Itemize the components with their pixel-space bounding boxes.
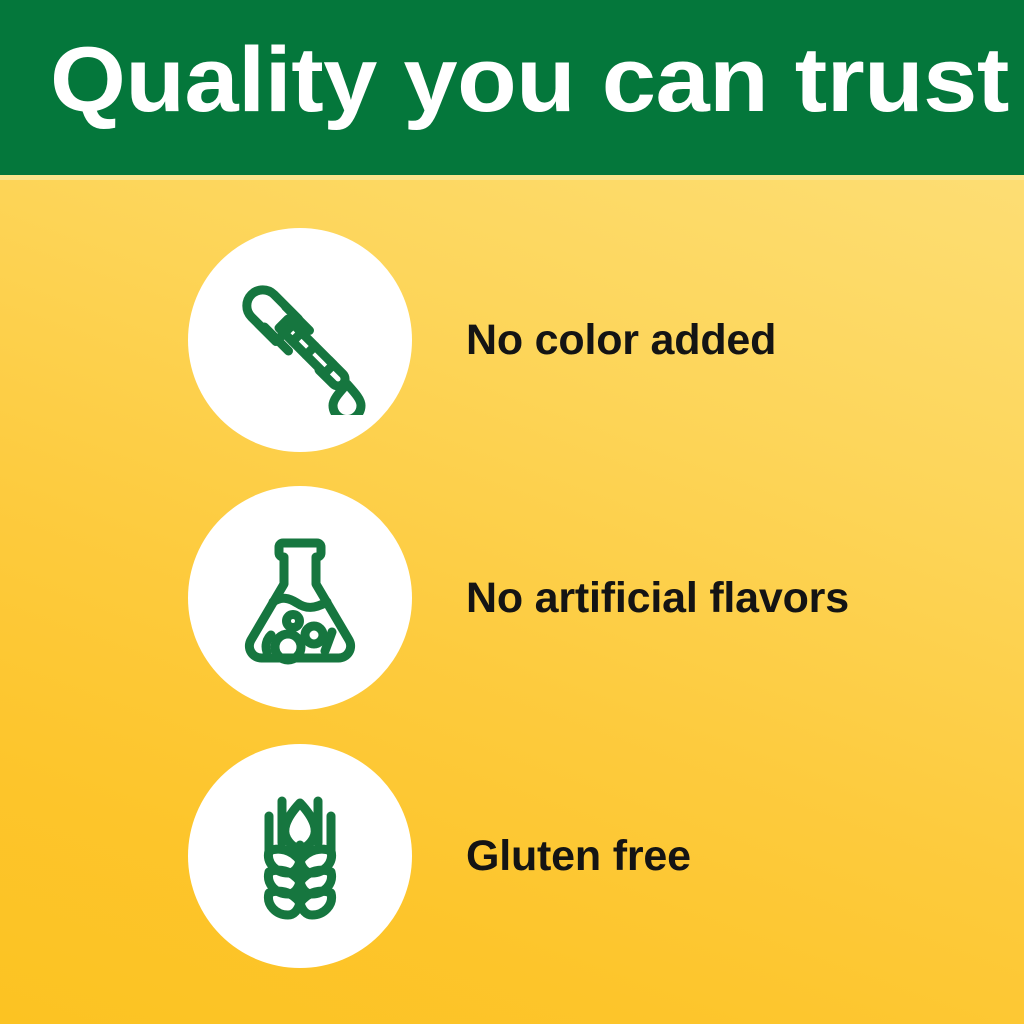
header-divider — [0, 175, 1024, 180]
feature-item-no-color-added: No color added — [0, 228, 1024, 452]
feature-label: Gluten free — [466, 744, 691, 968]
icon-badge — [188, 486, 412, 710]
flask-icon — [225, 523, 375, 673]
quality-banner: Quality you can trust — [0, 0, 1024, 1024]
feature-list: No color added — [0, 228, 1024, 1002]
feature-label: No artificial flavors — [466, 486, 849, 710]
icon-badge — [188, 228, 412, 452]
page-title: Quality you can trust — [50, 28, 1024, 132]
dropper-icon — [225, 265, 375, 415]
header-band: Quality you can trust — [0, 0, 1024, 175]
feature-item-no-artificial-flavors: No artificial flavors — [0, 486, 1024, 710]
feature-label: No color added — [466, 228, 776, 452]
icon-badge — [188, 744, 412, 968]
wheat-icon — [225, 781, 375, 931]
feature-item-gluten-free: Gluten free — [0, 744, 1024, 968]
